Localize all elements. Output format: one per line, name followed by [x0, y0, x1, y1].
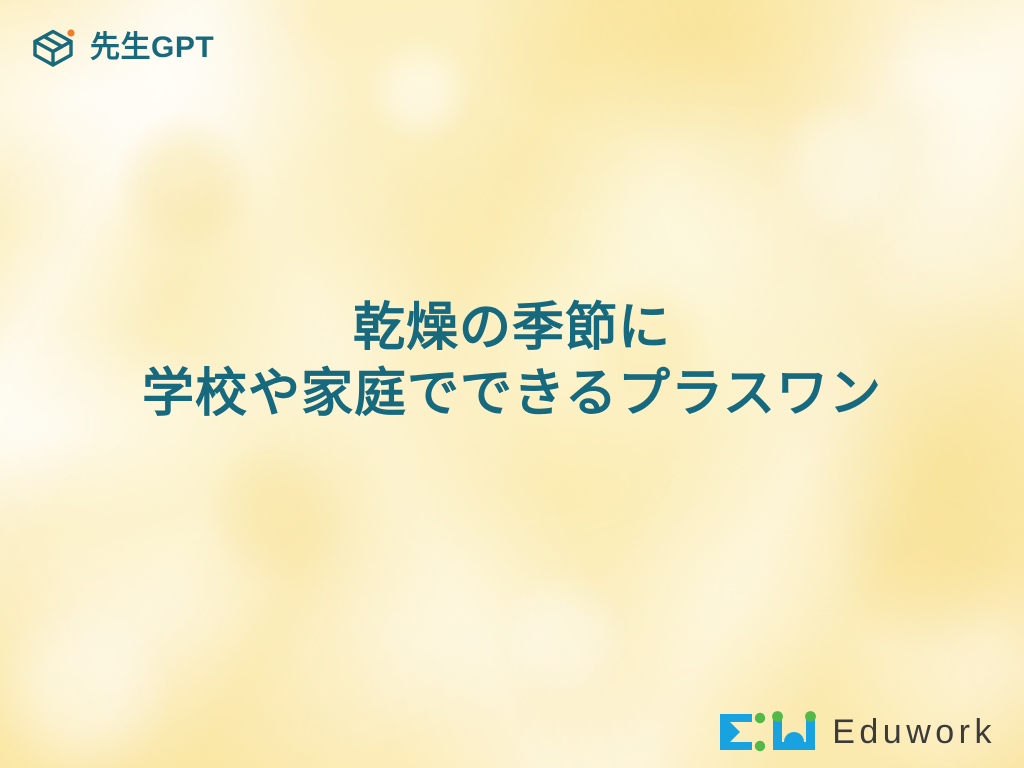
green-dot-icon: [805, 711, 816, 722]
green-dot-icon: [755, 713, 765, 723]
eduwork-wordmark: Eduwork: [832, 715, 996, 749]
sensei-gpt-mark: [28, 24, 80, 72]
accent-dot-icon: [67, 29, 74, 36]
slide-canvas: 先生GPT 乾燥の季節に 学校や家庭でできるプラスワン Eduwork: [0, 0, 1024, 768]
title-line-2: 学校や家庭でできるプラスワン: [40, 362, 984, 428]
brand-lockup: 先生GPT: [28, 24, 214, 72]
green-dot-icon: [755, 741, 765, 751]
eduwork-e-w-icon: [718, 708, 818, 756]
graduation-cap-hexagon-icon: [28, 24, 80, 72]
page-title: 乾燥の季節に 学校や家庭でできるプラスワン: [0, 296, 1024, 427]
title-line-1: 乾燥の季節に: [40, 296, 984, 362]
eduwork-logo-lockup: Eduwork: [718, 708, 996, 756]
brand-name: 先生GPT: [90, 33, 214, 63]
eduwork-mark: [718, 708, 818, 756]
green-dot-icon: [772, 711, 783, 722]
